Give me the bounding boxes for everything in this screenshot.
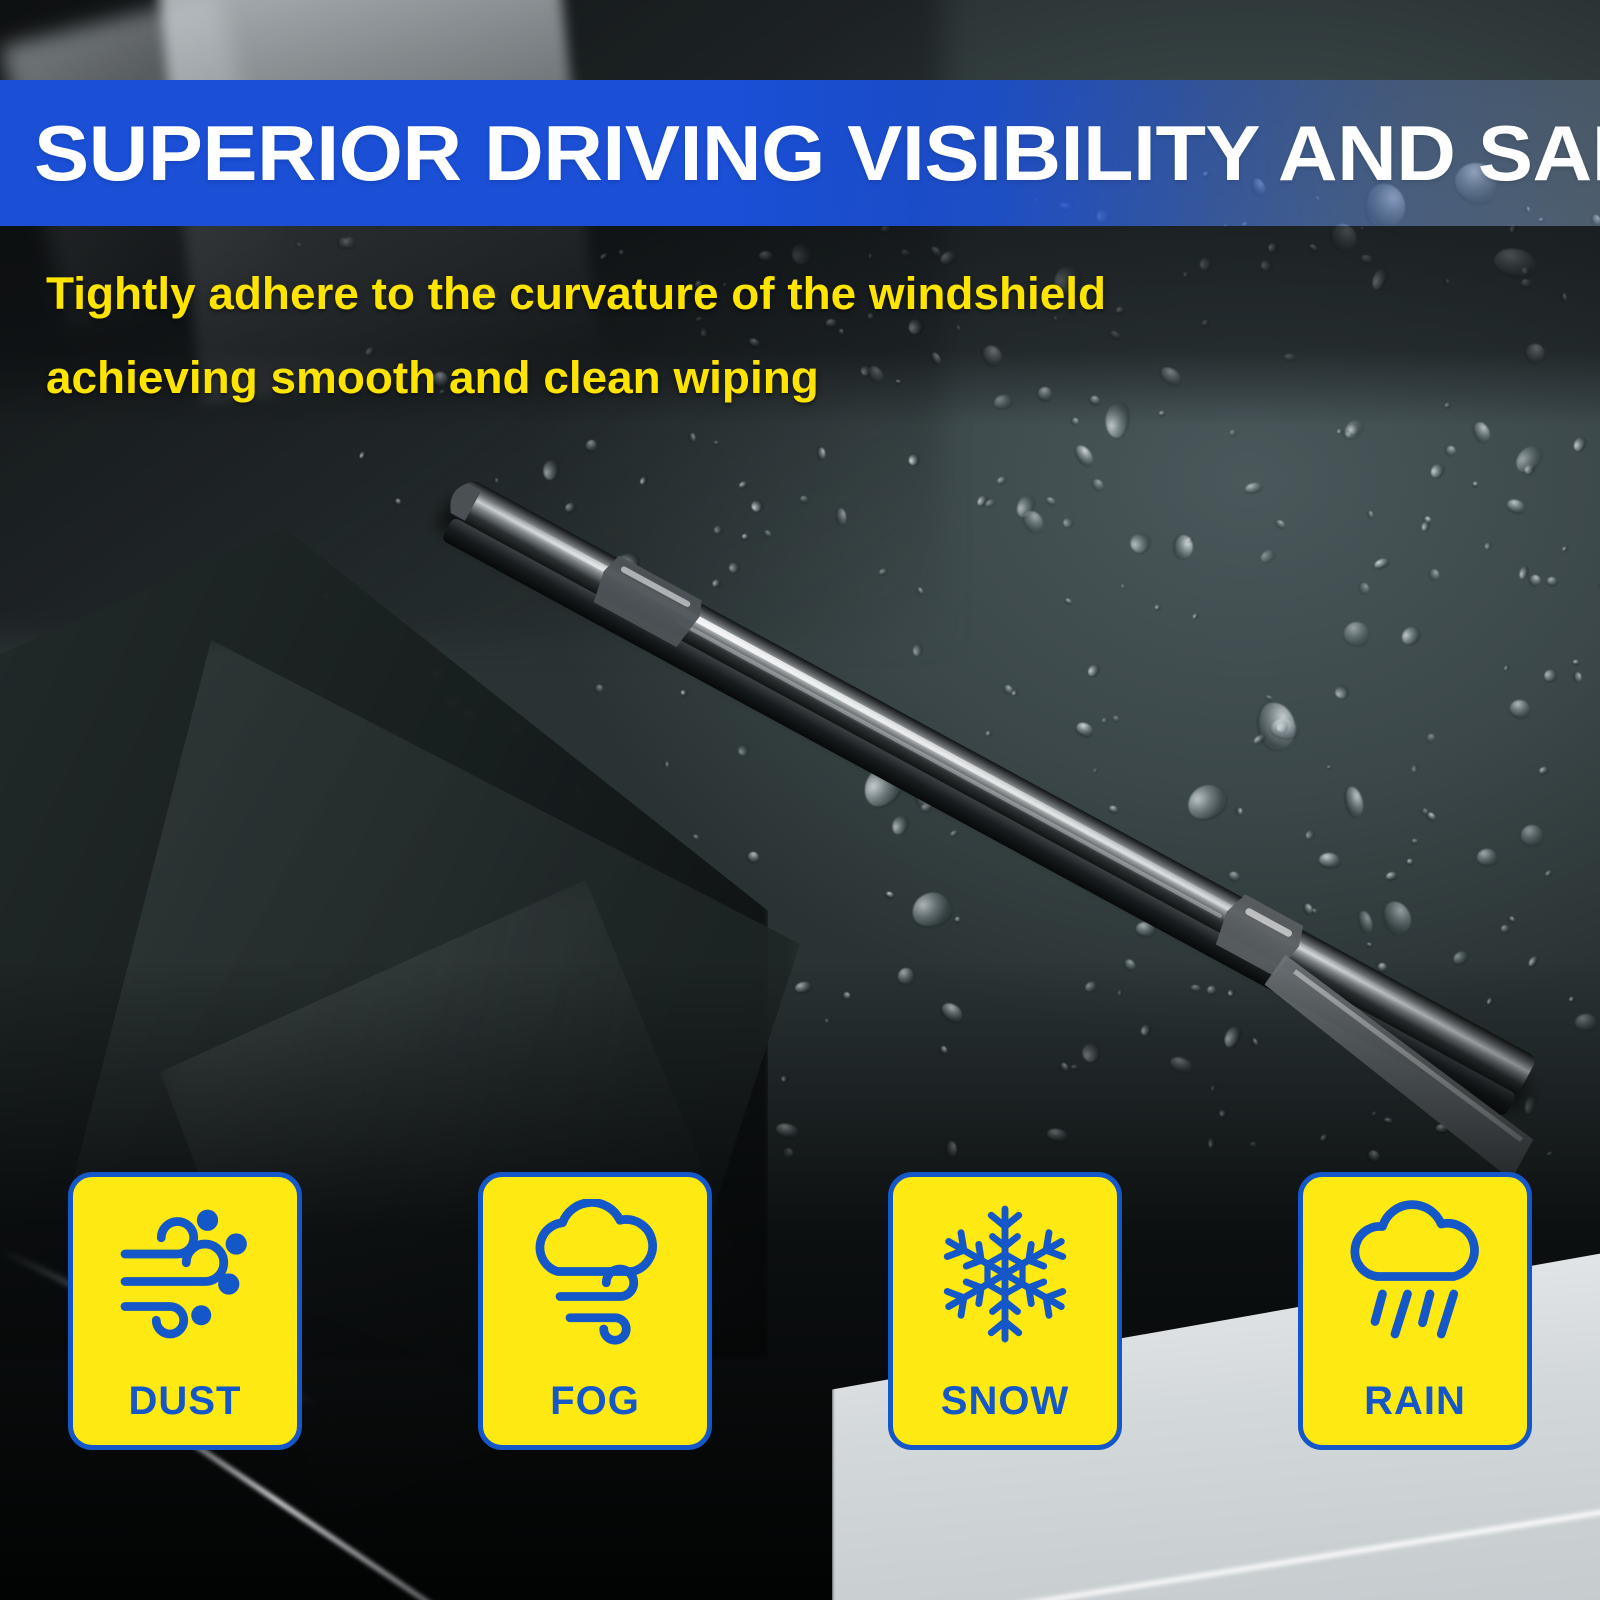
- raindrop: [955, 916, 961, 922]
- raindrop: [713, 524, 723, 535]
- raindrop: [1192, 612, 1198, 619]
- raindrop: [907, 888, 955, 933]
- raindrop: [671, 609, 684, 621]
- badge-rain[interactable]: RAIN: [1298, 1172, 1532, 1450]
- raindrop: [1426, 811, 1436, 821]
- raindrop: [751, 500, 762, 512]
- raindrop: [1420, 520, 1428, 531]
- raindrop: [1545, 870, 1553, 877]
- raindrop: [639, 475, 647, 484]
- raindrop: [724, 649, 737, 662]
- raindrop: [359, 451, 366, 459]
- raindrop: [1311, 908, 1317, 914]
- raindrop: [765, 669, 772, 676]
- raindrop: [1398, 623, 1422, 647]
- raindrop: [1258, 548, 1275, 564]
- raindrop: [763, 529, 772, 538]
- raindrop: [495, 494, 504, 505]
- raindrop: [1504, 665, 1509, 671]
- raindrop: [1379, 897, 1415, 938]
- raindrop: [1011, 824, 1026, 838]
- raindrop: [618, 553, 637, 573]
- raindrop: [1128, 531, 1151, 555]
- raindrop: [1154, 604, 1161, 611]
- raindrop: [394, 498, 401, 506]
- raindrop: [1518, 566, 1529, 580]
- raindrop: [856, 756, 911, 813]
- raindrop: [1266, 695, 1273, 701]
- raindrop: [1244, 481, 1263, 494]
- badge-label-dust: DUST: [73, 1381, 297, 1421]
- raindrop: [1412, 839, 1418, 843]
- badge-label-rain: RAIN: [1303, 1381, 1527, 1421]
- raindrop: [1135, 920, 1156, 937]
- raindrop: [891, 728, 899, 737]
- raindrop: [1428, 568, 1440, 582]
- raindrop: [1343, 785, 1366, 819]
- subcopy-block: Tightly adhere to the curvature of the w…: [46, 252, 1246, 420]
- raindrop: [1086, 663, 1100, 678]
- badge-snow[interactable]: SNOW: [888, 1172, 1122, 1450]
- raindrop: [1573, 660, 1579, 664]
- badge-label-fog: FOG: [483, 1381, 707, 1421]
- headline-text: SUPERIOR DRIVING VISIBILITY AND SAFETY: [34, 92, 1600, 214]
- raindrop: [1336, 428, 1342, 434]
- raindrop: [1407, 858, 1414, 863]
- raindrop: [1429, 461, 1447, 479]
- raindrop: [886, 891, 895, 899]
- raindrop: [1444, 444, 1457, 457]
- raindrop: [1101, 717, 1107, 723]
- raindrop: [908, 453, 920, 466]
- raindrop: [1528, 573, 1542, 587]
- raindrop: [1508, 697, 1532, 718]
- raindrop: [541, 459, 557, 481]
- raindrop: [878, 567, 887, 575]
- raindrop: [1011, 690, 1017, 696]
- raindrop: [1237, 808, 1242, 815]
- subcopy-line-1: Tightly adhere to the curvature of the w…: [46, 252, 1270, 336]
- cloud-fog-icon: [520, 1199, 670, 1349]
- raindrop: [996, 475, 1007, 485]
- raindrop: [818, 447, 826, 460]
- raindrop: [1073, 442, 1097, 469]
- raindrop: [1500, 924, 1509, 932]
- subcopy-line-2: achieving smooth and clean wiping: [46, 336, 1270, 420]
- raindrop: [1477, 849, 1497, 865]
- raindrop: [985, 499, 997, 509]
- raindrop: [1229, 429, 1236, 436]
- raindrop: [738, 480, 747, 488]
- raindrop: [1108, 804, 1119, 813]
- raindrop: [1091, 477, 1106, 492]
- raindrop: [1304, 829, 1315, 840]
- product-feature-image: SUPERIOR DRIVING VISIBILITY AND SAFETY T…: [0, 0, 1600, 1600]
- raindrop: [1366, 943, 1372, 948]
- raindrop: [1367, 510, 1373, 518]
- raindrop: [985, 729, 992, 736]
- raindrop: [1508, 916, 1515, 923]
- feature-badge-row: DUST FOG: [68, 1172, 1532, 1450]
- snowflake-icon: [930, 1199, 1080, 1349]
- raindrop: [711, 578, 721, 588]
- raindrop: [1562, 546, 1568, 552]
- raindrop: [1327, 766, 1331, 768]
- raindrop: [689, 432, 696, 442]
- raindrop: [1542, 668, 1557, 683]
- raindrop: [1574, 671, 1582, 682]
- raindrop: [1546, 576, 1557, 586]
- raindrop: [692, 833, 699, 839]
- badge-dust[interactable]: DUST: [68, 1172, 302, 1450]
- raindrop: [1319, 852, 1342, 868]
- raindrop: [1182, 778, 1231, 825]
- raindrop: [564, 500, 577, 513]
- raindrop: [1572, 436, 1587, 453]
- raindrop: [1074, 720, 1094, 738]
- raindrop: [1385, 871, 1398, 881]
- wind-dust-icon: [110, 1199, 260, 1349]
- raindrop: [1538, 765, 1549, 775]
- raindrop: [1426, 733, 1437, 744]
- raindrop: [1061, 516, 1073, 528]
- raindrop: [1357, 909, 1375, 935]
- raindrop: [1148, 855, 1161, 869]
- badge-label-snow: SNOW: [893, 1381, 1117, 1421]
- raindrop: [1342, 620, 1370, 647]
- raindrop: [1287, 931, 1301, 943]
- raindrop: [727, 562, 740, 575]
- raindrop: [741, 533, 748, 539]
- raindrop: [665, 762, 668, 768]
- raindrop: [916, 788, 936, 809]
- raindrop: [799, 495, 808, 503]
- raindrop: [1520, 824, 1543, 846]
- raindrop: [593, 683, 604, 694]
- raindrop: [890, 814, 910, 837]
- raindrop: [1506, 497, 1527, 515]
- raindrop: [1093, 768, 1098, 773]
- raindrop: [495, 478, 498, 483]
- raindrop: [949, 829, 958, 836]
- raindrop: [1065, 597, 1073, 604]
- raindrop: [747, 849, 762, 864]
- raindrop: [917, 587, 924, 595]
- raindrop: [836, 508, 848, 526]
- raindrop: [1473, 482, 1479, 487]
- raindrop: [1112, 714, 1120, 722]
- cloud-rain-icon: [1340, 1199, 1490, 1349]
- raindrop: [714, 441, 719, 444]
- badge-fog[interactable]: FOG: [478, 1172, 712, 1450]
- raindrop: [913, 644, 922, 656]
- raindrop: [584, 438, 598, 452]
- raindrop: [1228, 870, 1241, 882]
- raindrop: [1045, 496, 1057, 507]
- raindrop: [1373, 556, 1390, 570]
- raindrop: [637, 622, 642, 626]
- raindrop: [1359, 582, 1371, 595]
- raindrop: [1335, 686, 1347, 699]
- raindrop: [1142, 894, 1162, 908]
- raindrop: [738, 746, 747, 756]
- raindrop: [1106, 878, 1125, 893]
- raindrop: [680, 689, 687, 696]
- raindrop: [1484, 541, 1491, 550]
- raindrop: [1411, 764, 1417, 771]
- raindrop: [1275, 519, 1287, 530]
- raindrop: [1121, 583, 1125, 588]
